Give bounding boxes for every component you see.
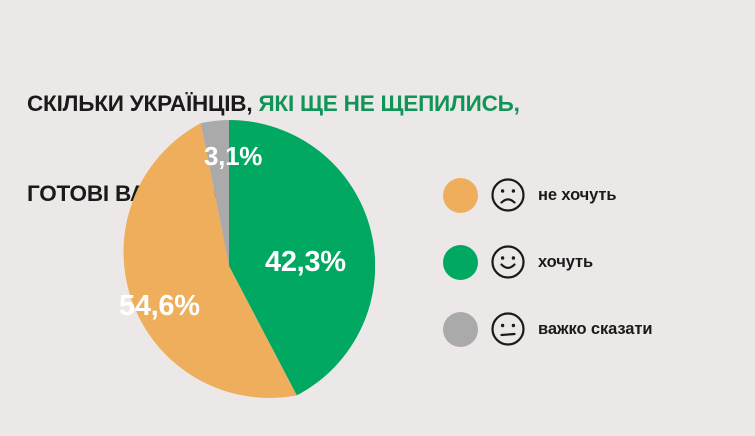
- infographic-page: СКІЛЬКИ УКРАЇНЦІВ, ЯКІ ЩЕ НЕ ЩЕПИЛИСЬ, Г…: [0, 0, 755, 436]
- legend-label-vazhko-skazaty: важко сказати: [538, 320, 652, 339]
- pie-label-green: 42,3%: [265, 246, 346, 279]
- legend-label-hochut: хочуть: [538, 253, 593, 272]
- sad-face-icon: [490, 177, 526, 213]
- legend-swatch-grey: [443, 312, 478, 347]
- title-line-1: СКІЛЬКИ УКРАЇНЦІВ, ЯКІ ЩЕ НЕ ЩЕПИЛИСЬ,: [27, 89, 727, 119]
- pie-label-grey: 3,1%: [204, 141, 262, 172]
- pie-chart: 42,3% 54,6% 3,1%: [83, 120, 375, 412]
- legend-label-ne-hochut: не хочуть: [538, 186, 616, 205]
- legend-item-vazhko-skazaty: важко сказати: [443, 310, 733, 348]
- happy-face-icon: [490, 244, 526, 280]
- title-text-part1: СКІЛЬКИ УКРАЇНЦІВ,: [27, 91, 258, 116]
- legend-item-hochut: хочуть: [443, 243, 733, 281]
- title-accent-text: ЯКІ ЩЕ НЕ ЩЕПИЛИСЬ,: [258, 91, 519, 116]
- legend-swatch-orange: [443, 178, 478, 213]
- legend-swatch-green: [443, 245, 478, 280]
- legend-item-ne-hochut: не хочуть: [443, 176, 733, 214]
- chart-legend: не хочуть хочуть: [443, 176, 733, 348]
- neutral-face-icon: [490, 311, 526, 347]
- pie-label-orange: 54,6%: [119, 290, 200, 323]
